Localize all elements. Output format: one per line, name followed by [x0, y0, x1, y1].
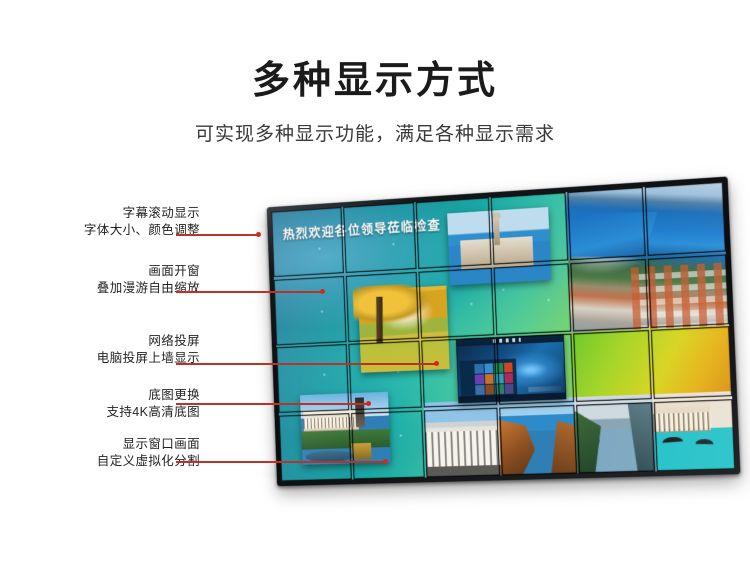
callout-window-split: 显示窗口画面 自定义虚拟化分割	[20, 436, 200, 469]
callout-line-1: 画面开窗	[20, 263, 200, 280]
wall-bezel-frame: 热烈欢迎各位领导莅临检查	[267, 176, 741, 486]
leader-dot-subtitle-scroll	[256, 232, 261, 237]
page-root: 多种显示方式 可实现多种显示功能，满足各种显示需求 字幕滚动显示 字体大小、颜色…	[0, 0, 750, 571]
wall-tile[interactable]	[499, 405, 576, 476]
wall-tile[interactable]	[419, 267, 495, 338]
wall-tile[interactable]	[496, 334, 573, 406]
callout-line-2: 自定义虚拟化分割	[20, 453, 200, 470]
wall-tile[interactable]	[494, 263, 571, 335]
wall-tile[interactable]	[645, 182, 726, 256]
callout-line-1: 网络投屏	[20, 333, 200, 350]
video-wall: 热烈欢迎各位领导莅临检查	[267, 176, 741, 486]
wall-tile[interactable]	[651, 326, 732, 399]
wall-tile[interactable]	[422, 337, 498, 408]
wall-tile[interactable]	[576, 402, 655, 474]
wall-tile[interactable]	[567, 187, 646, 261]
leader-line-subtitle-scroll	[176, 234, 260, 236]
leader-line-window-split	[176, 461, 387, 463]
callout-line-1: 字幕滚动显示	[20, 205, 200, 222]
wall-tile[interactable]	[570, 258, 649, 331]
video-wall-region: 热烈欢迎各位领导莅临检查	[236, 176, 736, 486]
wall-tile[interactable]	[648, 254, 729, 328]
wall-tile[interactable]	[654, 399, 735, 472]
callout-base-image: 底图更换 支持4K高清底图	[20, 387, 200, 420]
wall-tile[interactable]	[573, 330, 652, 402]
wall-tile[interactable]	[348, 341, 422, 411]
wall-tile[interactable]	[274, 276, 346, 346]
wall-tile[interactable]	[271, 207, 343, 277]
leader-line-picture-window	[176, 291, 324, 293]
wall-tile[interactable]	[491, 192, 568, 265]
callout-line-2: 支持4K高清底图	[20, 404, 200, 421]
leader-dot-picture-window	[320, 289, 325, 294]
callout-line-1: 底图更换	[20, 387, 200, 404]
callout-line-2: 叠加漫游自由缩放	[20, 280, 200, 297]
leader-line-base-image	[176, 403, 370, 405]
callout-network-cast: 网络投屏 电脑投屏上墙显示	[20, 333, 200, 366]
callout-line-2: 电脑投屏上墙显示	[20, 350, 200, 367]
leader-dot-network-cast	[434, 361, 439, 366]
wall-tile[interactable]	[424, 407, 500, 477]
wall-tile[interactable]	[351, 410, 425, 479]
wall-tile[interactable]	[279, 413, 352, 482]
wall-tile-grid	[271, 182, 735, 482]
wall-screen: 热烈欢迎各位领导莅临检查	[271, 182, 735, 482]
leader-dot-window-split	[383, 459, 388, 464]
wall-tile[interactable]	[346, 271, 420, 342]
wall-tile[interactable]	[343, 202, 417, 273]
wall-tile[interactable]	[416, 197, 491, 269]
callout-line-2: 字体大小、颜色调整	[20, 222, 200, 239]
callout-line-1: 显示窗口画面	[20, 436, 200, 453]
callout-subtitle-scroll: 字幕滚动显示 字体大小、颜色调整	[20, 205, 200, 238]
callout-picture-window: 画面开窗 叠加漫游自由缩放	[20, 263, 200, 296]
leader-dot-base-image	[366, 401, 371, 406]
leader-line-network-cast	[176, 363, 438, 365]
